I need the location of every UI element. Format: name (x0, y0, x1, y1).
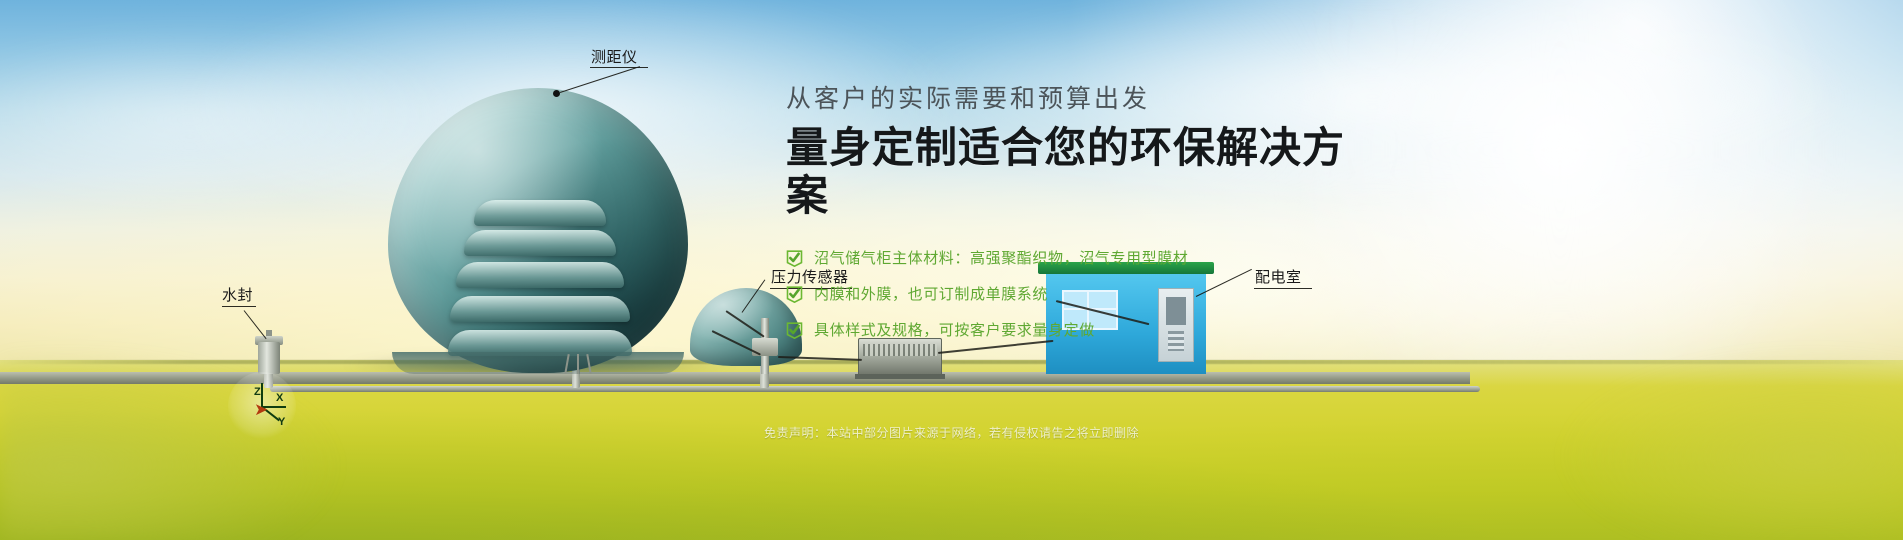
main-pipeline (270, 386, 1480, 392)
footer-disclaimer: 免责声明：本站中部分图片来源于网络，若有侵权请告之将立即删除 (0, 424, 1903, 441)
biogas-dome (388, 88, 688, 373)
check-badge-icon (786, 286, 803, 303)
water-seal-unit (258, 330, 280, 374)
list-item: 内膜和外膜，也可订制成单膜系统 (786, 279, 1346, 310)
check-badge-icon (786, 250, 803, 267)
banner-stage: 测距仪 水封 压力传感器 配电室 Z X Y ➤ 从客户的实际需要和预算出发 量… (0, 0, 1903, 540)
rangefinder-underline (590, 67, 648, 68)
pressure-sensor-unit (752, 318, 778, 374)
bullet-text: 具体样式及规格，可按客户要求量身定做 (814, 323, 1095, 338)
bullet-text: 内膜和外膜，也可订制成单膜系统 (814, 287, 1048, 302)
dome-inner-membrane (448, 200, 632, 374)
axis-arrow-icon: ➤ (254, 400, 268, 420)
axis-label-z: Z (254, 386, 261, 398)
callout-label-water-seal: 水封 (222, 288, 253, 303)
list-item: 具体样式及规格，可按客户要求量身定做 (786, 315, 1346, 346)
check-badge-icon (786, 322, 803, 339)
pipe-support-tripod (566, 354, 590, 374)
horizon-line (0, 360, 1903, 364)
waterseal-underline (222, 306, 256, 307)
ground-slab (0, 372, 1470, 384)
banner-subtitle: 从客户的实际需要和预算出发 (786, 84, 1346, 114)
dome-base-skirt (392, 352, 684, 374)
banner-title: 量身定制适合您的环保解决方案 (786, 124, 1346, 221)
field-blur-right (1560, 352, 1903, 540)
feature-bullet-list: 沼气储气柜主体材料：高强聚酯织物，沼气专用型膜材 内膜和外膜，也可订制成单膜系统 (786, 243, 1346, 346)
bullet-text: 沼气储气柜主体材料：高强聚酯织物，沼气专用型膜材 (814, 251, 1188, 266)
list-item: 沼气储气柜主体材料：高强聚酯织物，沼气专用型膜材 (786, 243, 1346, 274)
marketing-copy: 从客户的实际需要和预算出发 量身定制适合您的环保解决方案 沼气储气柜主体材料：高… (786, 84, 1346, 351)
axis-label-x: X (276, 392, 283, 404)
callout-label-rangefinder: 测距仪 (591, 50, 638, 65)
